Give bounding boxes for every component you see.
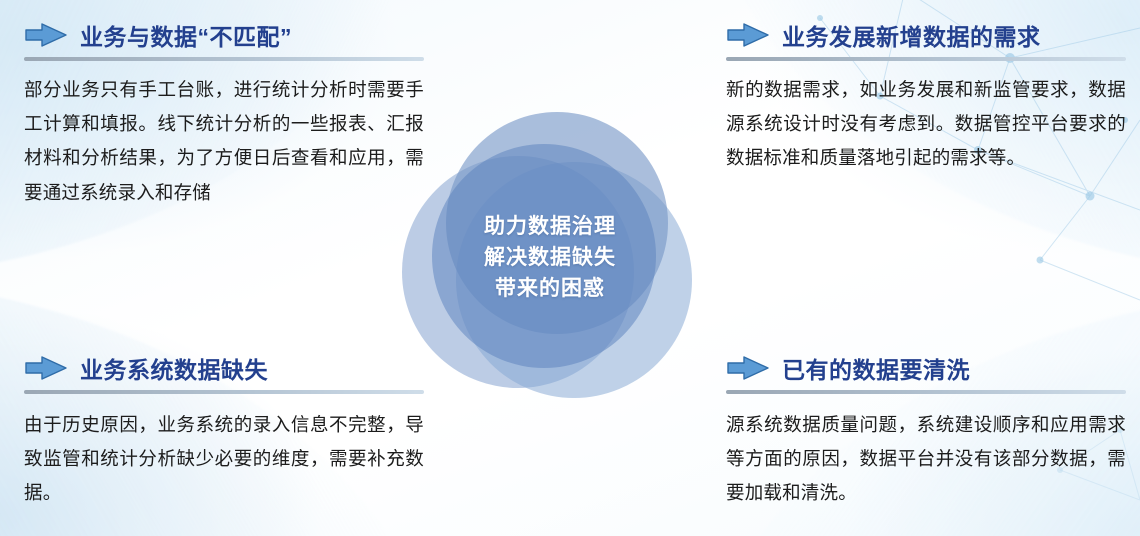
center-label-line-2: 解决数据缺失 xyxy=(484,244,616,272)
panel-bottom-right-body: 源系统数据质量问题，系统建设顺序和应用需求等方面的原因，数据平台并没有该部分数据… xyxy=(726,408,1126,511)
panel-bottom-left-body: 由于历史原因，业务系统的录入信息不完整，导致监管和统计分析缺少必要的维度，需要补… xyxy=(24,408,424,511)
panel-top-left-rule xyxy=(24,57,424,61)
panel-top-left-title: 业务与数据“不匹配” xyxy=(80,18,292,52)
panel-top-right-body: 新的数据需求，如业务发展和新监管要求，数据源系统设计时没有考虑到。数据管控平台要… xyxy=(726,73,1126,176)
panel-bottom-left-header: 业务系统数据缺失 xyxy=(24,349,424,387)
center-label-line-3: 带来的困惑 xyxy=(495,275,605,303)
arrow-right-icon xyxy=(24,355,68,381)
center-label: 助力数据治理 解决数据缺失 带来的困惑 xyxy=(402,112,694,404)
panel-bottom-right-rule xyxy=(726,390,1126,394)
panel-bottom-right-header: 已有的数据要清洗 xyxy=(726,349,1126,387)
center-label-line-1: 助力数据治理 xyxy=(484,213,616,241)
panel-bottom-right: 已有的数据要清洗 源系统数据质量问题，系统建设顺序和应用需求等方面的原因，数据平… xyxy=(726,349,1126,511)
arrow-right-icon xyxy=(726,22,770,48)
panel-top-right-rule xyxy=(726,57,1126,61)
arrow-right-icon xyxy=(726,355,770,381)
panel-bottom-left: 业务系统数据缺失 由于历史原因，业务系统的录入信息不完整，导致监管和统计分析缺少… xyxy=(24,349,424,511)
panel-top-right-header: 业务发展新增数据的需求 xyxy=(726,16,1126,54)
panel-top-right: 业务发展新增数据的需求 新的数据需求，如业务发展和新监管要求，数据源系统设计时没… xyxy=(726,16,1126,176)
panel-top-left-body: 部分业务只有手工台账，进行统计分析时需要手工计算和填报。线下统计分析的一些报表、… xyxy=(24,73,424,210)
panel-top-left: 业务与数据“不匹配” 部分业务只有手工台账，进行统计分析时需要手工计算和填报。线… xyxy=(24,16,424,210)
slide-canvas: 助力数据治理 解决数据缺失 带来的困惑 业务与数据“不匹配” 部分业务只有手工台… xyxy=(0,0,1140,536)
panel-bottom-right-title: 已有的数据要清洗 xyxy=(782,351,970,385)
panel-top-right-title: 业务发展新增数据的需求 xyxy=(782,18,1041,52)
center-venn-graphic: 助力数据治理 解决数据缺失 带来的困惑 xyxy=(402,112,694,404)
panel-bottom-left-rule xyxy=(24,390,424,394)
panel-top-left-header: 业务与数据“不匹配” xyxy=(24,16,424,54)
panel-bottom-left-title: 业务系统数据缺失 xyxy=(80,351,268,385)
arrow-right-icon xyxy=(24,22,68,48)
